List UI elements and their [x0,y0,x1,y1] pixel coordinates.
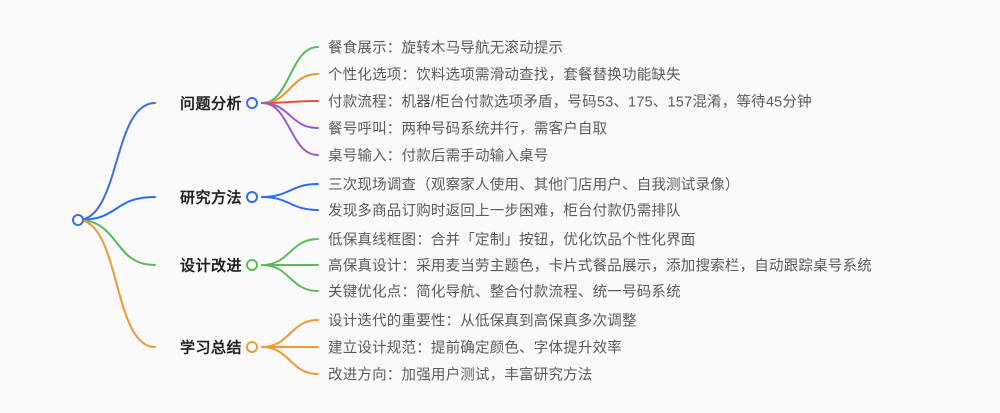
mind-map-canvas: 问题分析餐食展示：旋转木马导航无滚动提示个性化选项：饮料选项需滑动查找，套餐替换… [0,0,1000,413]
root-node-dot[interactable] [72,214,84,226]
leaf-label-problem-analysis-4[interactable]: 桌号输入：付款后需手动输入桌号 [328,145,549,166]
leaf-label-research-method-0[interactable]: 三次现场调查（观察家人使用、其他门店用户、自我测试录像） [328,174,740,195]
leaf-label-problem-analysis-1[interactable]: 个性化选项：饮料选项需滑动查找，套餐替换功能缺失 [328,64,681,85]
leaf-label-learning-summary-1[interactable]: 建立设计规范：提前确定颜色、字体提升效率 [328,337,622,358]
leaf-label-problem-analysis-2[interactable]: 付款流程：机器/柜台付款选项矛盾，号码53、175、157混淆，等待45分钟 [328,91,812,112]
branch-node-dot-problem-analysis[interactable] [246,97,258,109]
leaf-label-design-improvement-1[interactable]: 高保真设计：采用麦当劳主题色，卡片式餐品展示，添加搜索栏，自动跟踪桌号系统 [328,255,872,276]
branch-node-dot-design-improvement[interactable] [246,259,258,271]
leaf-label-design-improvement-2[interactable]: 关键优化点：简化导航、整合付款流程、统一号码系统 [328,281,681,302]
leaf-label-problem-analysis-3[interactable]: 餐号呼叫：两种号码系统并行，需客户自取 [328,118,607,139]
leaf-label-learning-summary-0[interactable]: 设计迭代的重要性：从低保真到高保真多次调整 [328,310,637,331]
leaf-label-learning-summary-2[interactable]: 改进方向：加强用户测试，丰富研究方法 [328,364,593,385]
branch-node-dot-learning-summary[interactable] [246,341,258,353]
node-layer: 问题分析餐食展示：旋转木马导航无滚动提示个性化选项：饮料选项需滑动查找，套餐替换… [0,0,1000,413]
leaf-label-problem-analysis-0[interactable]: 餐食展示：旋转木马导航无滚动提示 [328,37,563,58]
leaf-label-design-improvement-0[interactable]: 低保真线框图：合并「定制」按钮，优化饮品个性化界面 [328,229,696,250]
leaf-label-research-method-1[interactable]: 发现多商品订购时返回上一步困难，柜台付款仍需排队 [328,200,681,221]
branch-node-dot-research-method[interactable] [246,191,258,203]
